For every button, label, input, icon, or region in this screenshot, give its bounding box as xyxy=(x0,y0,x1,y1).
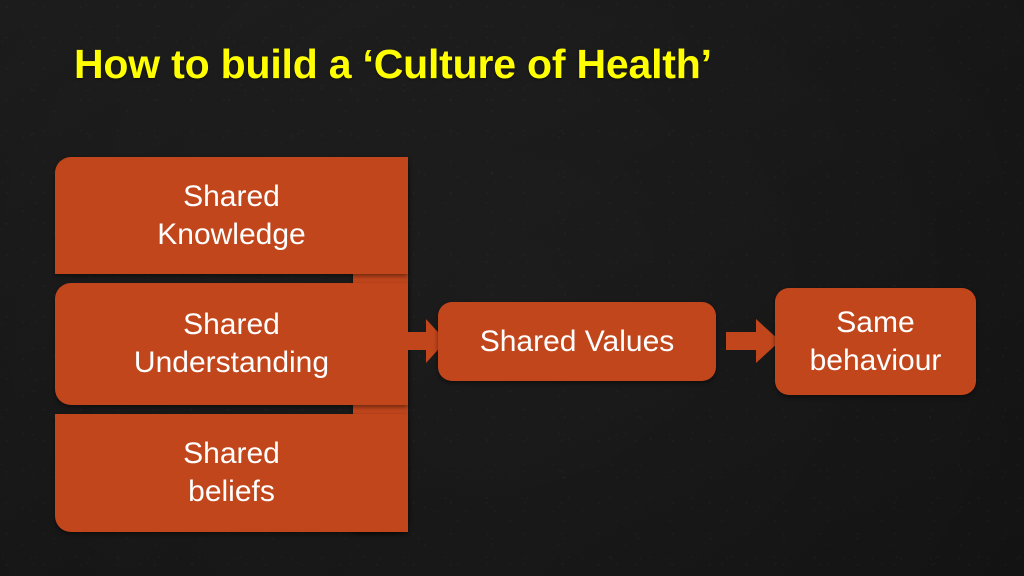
node-shared-values[interactable]: Shared Values xyxy=(438,302,716,381)
node-shared-understanding-line1: Shared xyxy=(134,306,329,344)
node-shared-knowledge[interactable]: Shared Knowledge xyxy=(55,157,408,274)
node-same-behaviour[interactable]: Same behaviour xyxy=(775,288,976,395)
page-title: How to build a ‘Culture of Health’ xyxy=(74,40,954,88)
shared-inputs-group: Shared Knowledge Shared Understanding Sh… xyxy=(55,157,408,532)
arrow-right-icon-values-to-behaviour xyxy=(726,318,780,364)
node-same-behaviour-line1: Same xyxy=(810,304,942,342)
node-shared-beliefs[interactable]: Shared beliefs xyxy=(55,414,408,532)
node-shared-understanding[interactable]: Shared Understanding xyxy=(55,283,408,405)
node-shared-beliefs-line1: Shared xyxy=(183,435,280,473)
node-shared-knowledge-line2: Knowledge xyxy=(157,216,305,254)
node-shared-understanding-line2: Understanding xyxy=(134,344,329,382)
node-shared-beliefs-line2: beliefs xyxy=(183,473,280,511)
node-shared-knowledge-line1: Shared xyxy=(157,178,305,216)
node-shared-values-label: Shared Values xyxy=(480,323,675,361)
slide-canvas: How to build a ‘Culture of Health’ Share… xyxy=(0,0,1024,576)
node-same-behaviour-line2: behaviour xyxy=(810,342,942,380)
